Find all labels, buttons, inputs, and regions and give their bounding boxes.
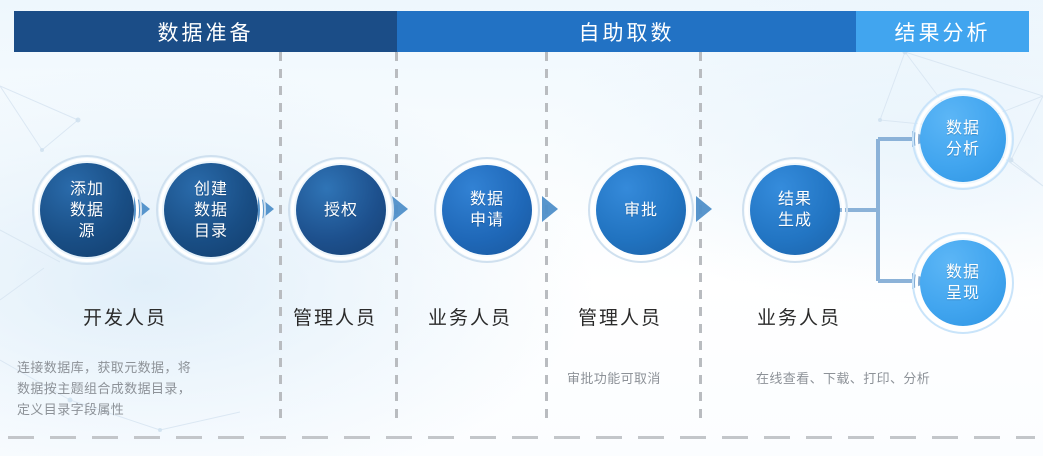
role-label-admin-1: 管理人员 (293, 303, 377, 330)
node-label: 审批 (624, 200, 658, 221)
node-create-catalog[interactable]: 创建 数据 目录 (156, 155, 266, 265)
phase-label: 数据准备 (158, 17, 254, 47)
node-add-data-source[interactable]: 添加 数据 源 (32, 155, 142, 265)
node-result-generation[interactable]: 结果 生成 (742, 157, 848, 263)
arrow-step3-to-step4 (392, 196, 408, 222)
node-approval[interactable]: 审批 (588, 157, 694, 263)
node-data-analysis[interactable]: 数据 分析 (912, 88, 1014, 190)
caption-result-analysis: 在线查看、下载、打印、分析 (756, 368, 1016, 389)
bottom-divider (8, 436, 1035, 439)
caption-approval: 审批功能可取消 (567, 368, 737, 389)
node-label: 添加 数据 源 (70, 179, 104, 242)
node-label: 结果 生成 (778, 189, 812, 231)
node-label: 数据 分析 (946, 118, 980, 160)
node-label: 数据 申请 (470, 189, 504, 231)
caption-data-preparation: 连接数据库，获取元数据，将 数据按主题组合成数据目录， 定义目录字段属性 (17, 357, 267, 420)
phase-data-preparation[interactable]: 数据准备 (14, 11, 397, 52)
node-label: 数据 呈现 (946, 262, 980, 304)
node-label: 授权 (324, 200, 358, 221)
role-label-admin-2: 管理人员 (578, 303, 662, 330)
phase-label: 自助取数 (579, 17, 675, 47)
node-authorize[interactable]: 授权 (288, 157, 394, 263)
role-label-business-1: 业务人员 (428, 303, 512, 330)
arrow-step4-to-step5 (542, 196, 558, 222)
node-data-request[interactable]: 数据 申请 (434, 157, 540, 263)
column-divider-1 (279, 52, 282, 424)
flowchart-canvas: 数据准备 自助取数 结果分析 添加 数据 (0, 0, 1043, 456)
column-divider-2 (395, 52, 398, 424)
phase-self-service-query[interactable]: 自助取数 (397, 11, 856, 52)
node-data-presentation[interactable]: 数据 呈现 (912, 232, 1014, 334)
column-divider-3 (545, 52, 548, 424)
node-label: 创建 数据 目录 (194, 179, 228, 242)
phase-result-analysis[interactable]: 结果分析 (856, 11, 1029, 52)
arrow-step5-to-step6 (696, 196, 712, 222)
phase-label: 结果分析 (895, 17, 991, 47)
role-label-developer: 开发人员 (83, 303, 167, 330)
role-label-business-2: 业务人员 (757, 303, 841, 330)
phase-header-bar: 数据准备 自助取数 结果分析 (14, 11, 1029, 52)
